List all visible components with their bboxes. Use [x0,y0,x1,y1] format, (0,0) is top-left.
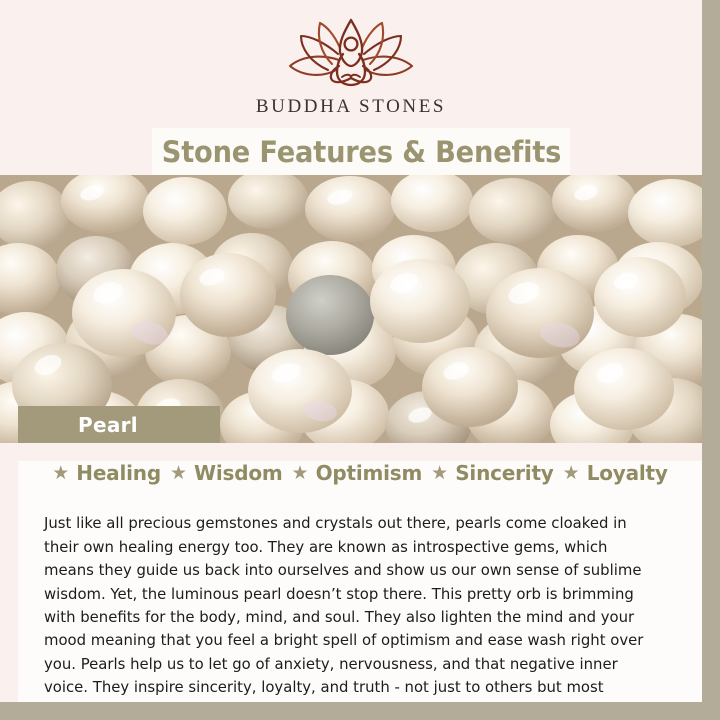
divider-strip [18,443,702,461]
stone-name: Pearl [78,413,138,437]
star-icon: ★ [170,464,187,483]
benefits-row: ★ Healing ★ Wisdom ★ Optimism ★ Sincerit… [18,461,702,485]
benefit-label: Loyalty [587,461,668,485]
benefit-item: ★ Wisdom [170,461,283,485]
card-panel: BUDDHA STONES Stone Features & Benefits [0,0,702,702]
star-icon: ★ [292,464,309,483]
benefit-label: Healing [76,461,161,485]
benefit-label: Wisdom [194,461,283,485]
benefit-item: ★ Healing [52,461,161,485]
benefit-item: ★ Loyalty [563,461,668,485]
star-icon: ★ [563,464,580,483]
pearl-photo [0,175,702,443]
description-text: Just like all precious gemstones and cry… [44,512,654,702]
brand-name: BUDDHA STONES [0,96,702,118]
benefit-label: Sincerity [455,461,553,485]
content-panel: ★ Healing ★ Wisdom ★ Optimism ★ Sincerit… [18,443,702,702]
title-banner: Stone Features & Benefits [152,128,570,175]
lotus-meditation-icon [276,14,426,92]
benefit-item: ★ Optimism [292,461,423,485]
benefit-item: ★ Sincerity [431,461,553,485]
stone-name-bar: Pearl [18,406,220,443]
benefit-label: Optimism [316,461,423,485]
page-title: Stone Features & Benefits [161,135,560,169]
brand-logo: BUDDHA STONES [0,14,702,118]
star-icon: ★ [52,464,69,483]
pearl-photo-illustration [0,175,702,443]
star-icon: ★ [431,464,448,483]
infographic-card: BUDDHA STONES Stone Features & Benefits [0,0,720,720]
